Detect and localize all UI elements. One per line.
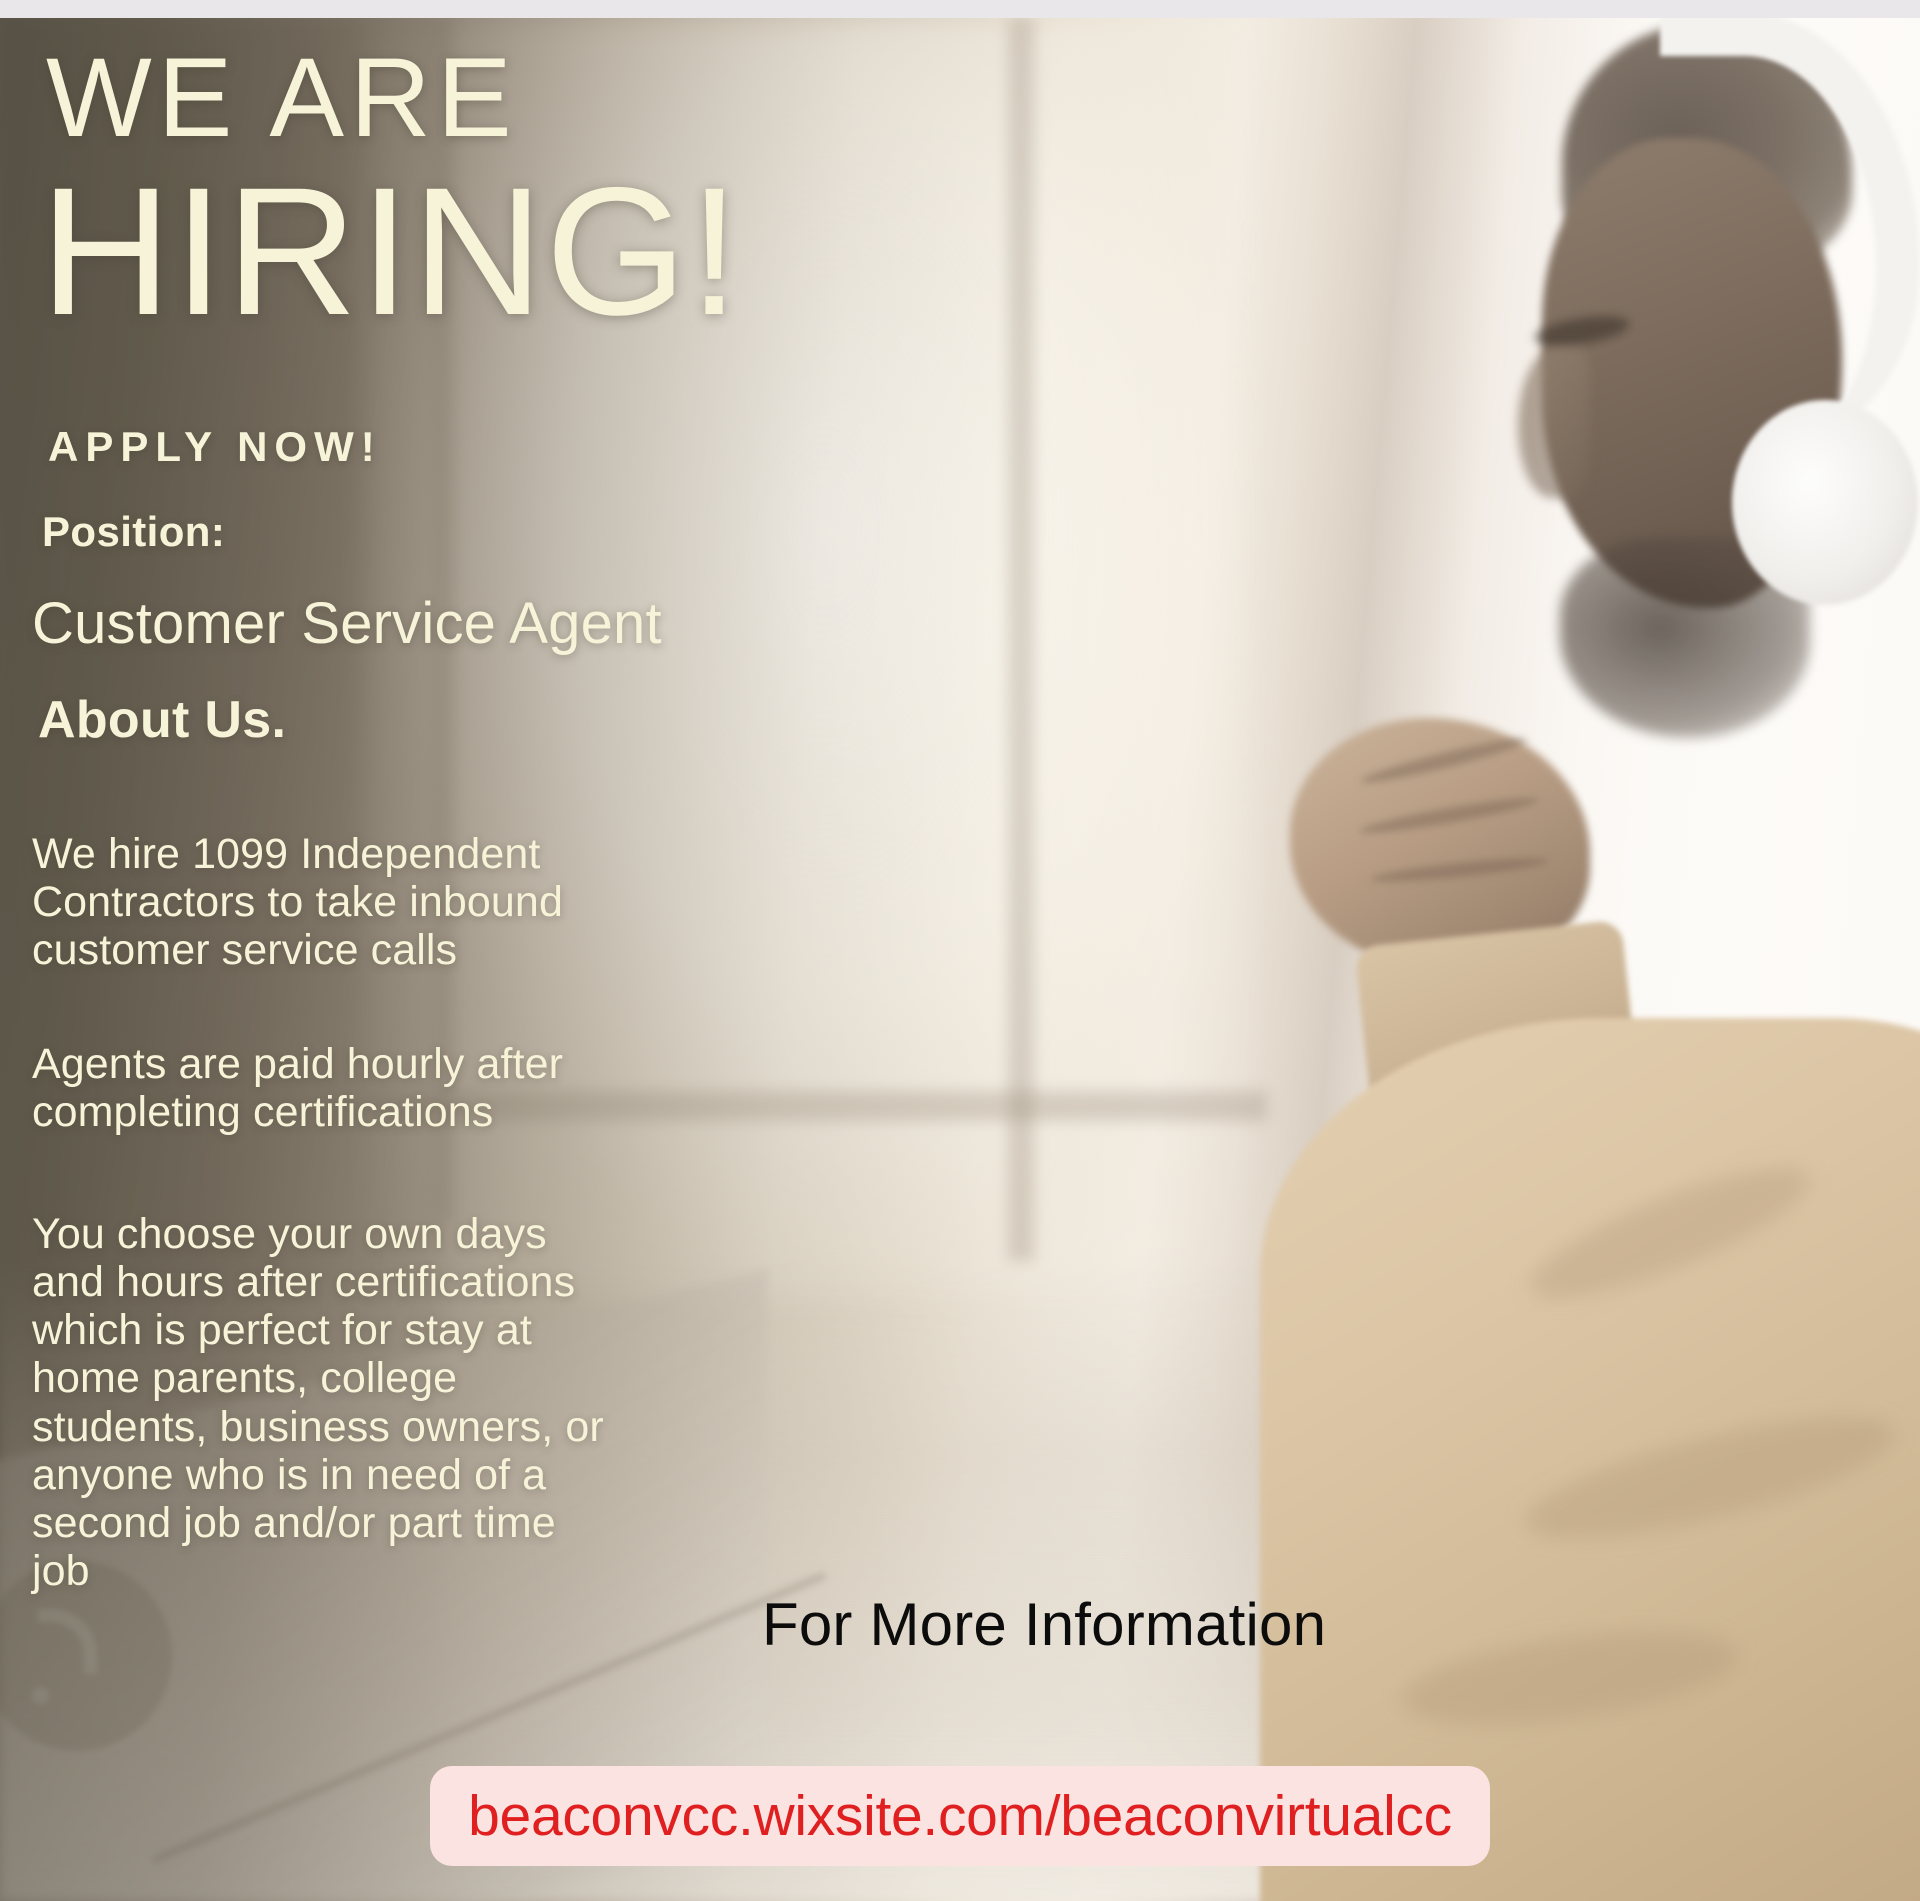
about-paragraph-pay: Agents are paid hourly after completing … bbox=[32, 1040, 692, 1136]
position-label: Position: bbox=[42, 508, 225, 556]
position-value: Customer Service Agent bbox=[32, 590, 662, 657]
about-paragraph-contractors: We hire 1099 Independent Contractors to … bbox=[32, 830, 672, 974]
about-paragraph-schedule: You choose your own days and hours after… bbox=[32, 1210, 722, 1595]
apply-now-callout: APPLY NOW! bbox=[48, 423, 382, 471]
poster-content: WE ARE HIRING! APPLY NOW! Position: Cust… bbox=[0, 18, 1920, 1901]
about-us-heading: About Us. bbox=[38, 690, 286, 750]
headline-we-are: WE ARE bbox=[46, 42, 518, 154]
top-edge-strip bbox=[0, 0, 1920, 18]
for-more-information-label: For More Information bbox=[762, 1590, 1326, 1659]
headline-hiring: HIRING! bbox=[40, 160, 742, 342]
website-url-text[interactable]: beaconvcc.wixsite.com/beaconvirtualcc bbox=[468, 1783, 1452, 1849]
website-url-banner[interactable]: beaconvcc.wixsite.com/beaconvirtualcc bbox=[430, 1766, 1490, 1866]
hiring-poster: WE ARE HIRING! APPLY NOW! Position: Cust… bbox=[0, 0, 1920, 1901]
